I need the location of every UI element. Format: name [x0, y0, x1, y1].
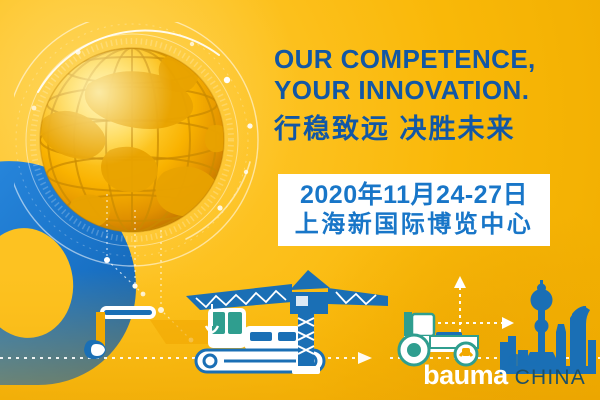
chinese-tagline: 行稳致远 决胜未来 — [274, 112, 594, 146]
event-info-box: 2020年11月24-27日 上海新国际博览中心 — [278, 174, 550, 246]
logo-region: CHINA — [515, 367, 586, 388]
bauma-china-banner: OUR COMPETENCE, YOUR INNOVATION. 行稳致远 决胜… — [0, 0, 600, 400]
headline-line-1: OUR COMPETENCE, — [274, 44, 594, 75]
bauma-china-logo: bauma CHINA — [423, 362, 586, 392]
event-venue: 上海新国际博览中心 — [295, 210, 534, 239]
event-date: 2020年11月24-27日 — [300, 181, 528, 210]
headline-block: OUR COMPETENCE, YOUR INNOVATION. 行稳致远 决胜… — [274, 44, 594, 146]
logo-wordmark: bauma — [423, 362, 508, 389]
headline-line-2: YOUR INNOVATION. — [274, 75, 594, 106]
